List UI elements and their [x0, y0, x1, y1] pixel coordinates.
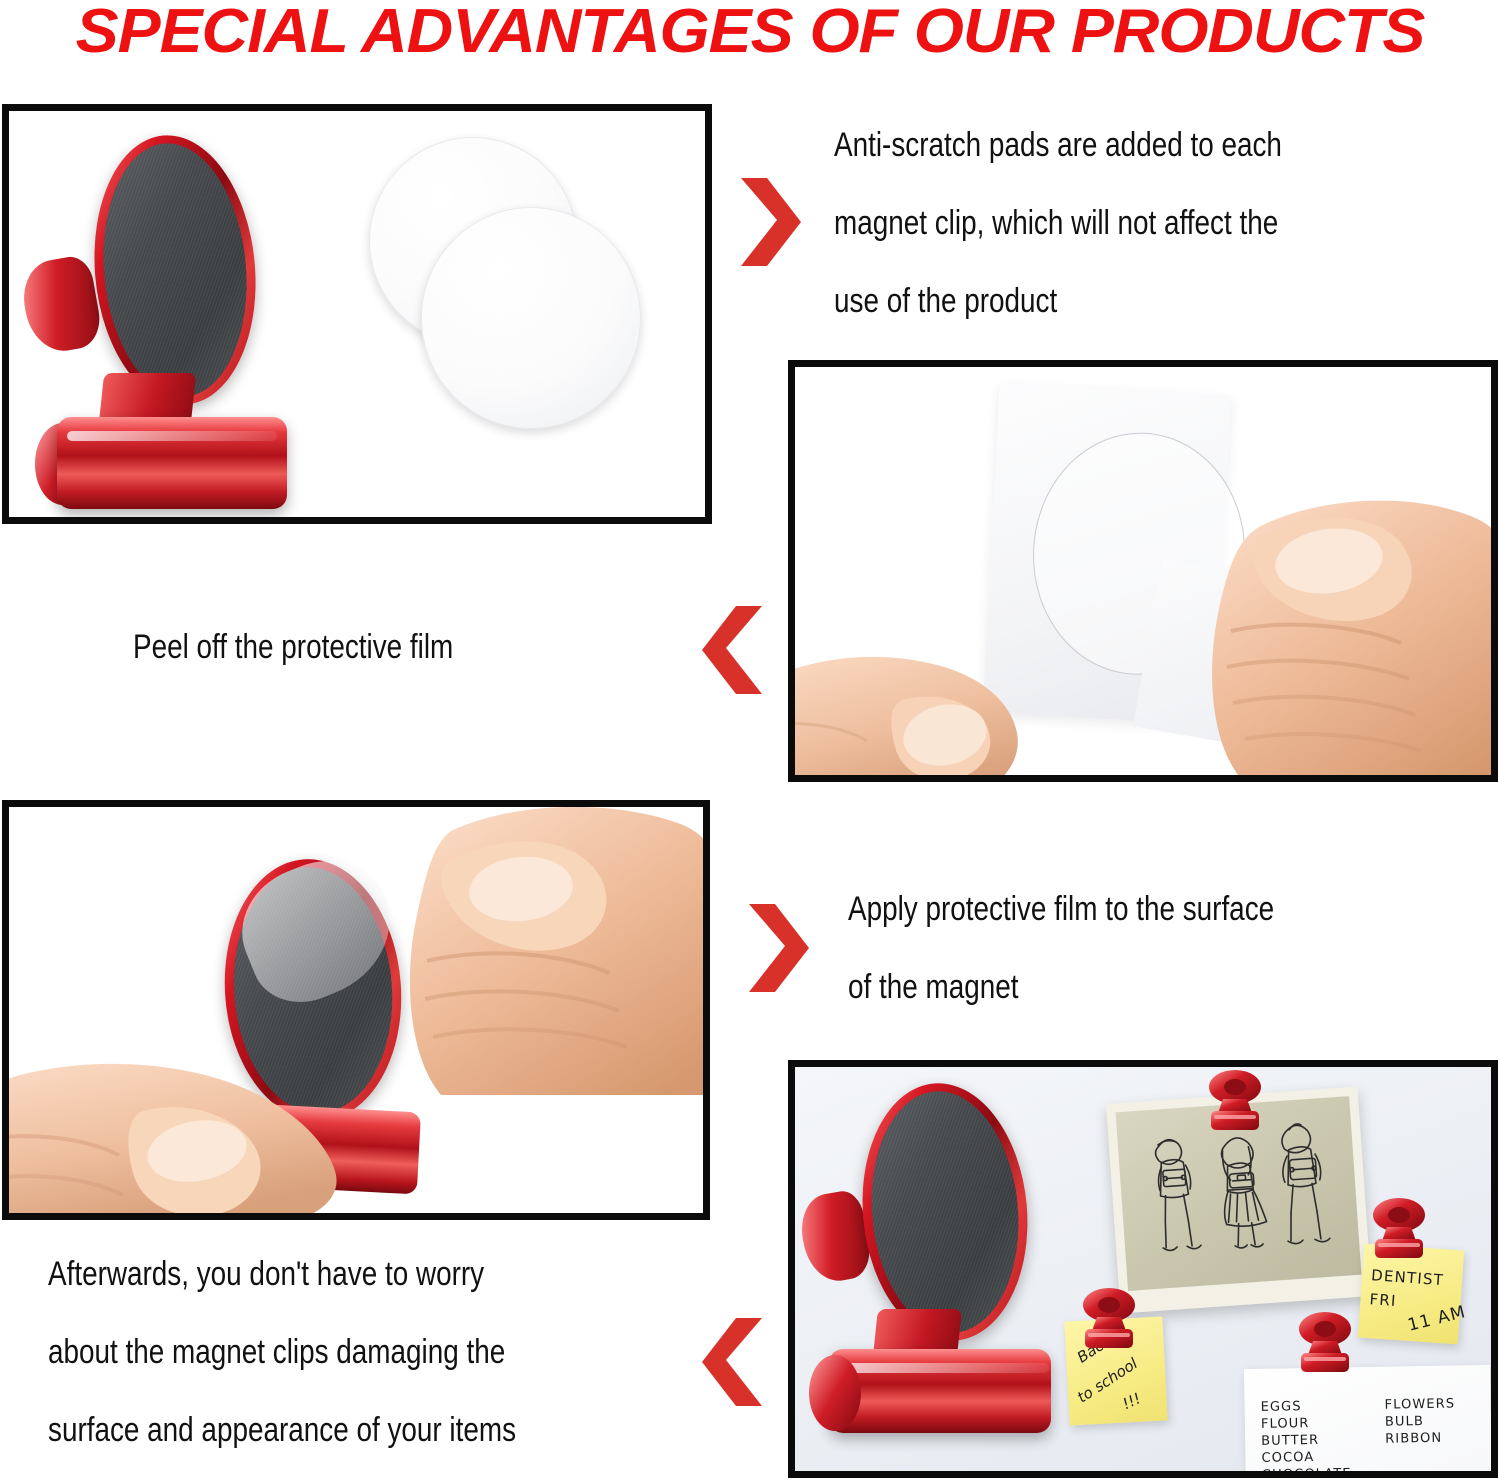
- chevron-right-icon: [745, 902, 811, 994]
- list-item: BULB: [1385, 1412, 1456, 1430]
- red-magnet-clip: [49, 131, 289, 511]
- clip-roll-end: [809, 1355, 861, 1431]
- mini-clip-dentist: [1365, 1197, 1433, 1269]
- dentist-line-1: DENTIST: [1371, 1266, 1445, 1289]
- clip-hinge: [18, 253, 105, 356]
- chevron-left-icon: [700, 604, 766, 696]
- panel-3-scene: [9, 807, 703, 1213]
- step-4-line-2: about the magnet clips damaging the: [48, 1313, 516, 1391]
- panel-1-scene: [9, 111, 705, 517]
- list-item: BUTTER: [1261, 1431, 1351, 1450]
- fridge-scene-photo: Back to school !!! DENTIST FRI 11 AM: [788, 1060, 1498, 1478]
- dentist-line-3: 11 AM: [1406, 1302, 1468, 1336]
- list-item: EGGS: [1260, 1397, 1350, 1416]
- step-2-line-1: Peel off the protective film: [133, 608, 453, 686]
- protective-pad-disc-front: [421, 207, 641, 429]
- panel-2-scene: [795, 367, 1491, 775]
- mini-clip-shopping-list: [1291, 1311, 1359, 1383]
- right-hand: [1187, 485, 1498, 782]
- page-title: SPECIAL ADVANTAGES OF OUR PRODUCTS: [0, 0, 1500, 68]
- magnet-clip-with-pads-photo: [2, 104, 712, 524]
- chevron-left-icon: [700, 1316, 766, 1408]
- bts-line-3: !!!: [1120, 1389, 1144, 1413]
- mini-clip-photo: [1201, 1069, 1269, 1141]
- apply-film-photo: [2, 800, 710, 1220]
- magnet-disc: [852, 1076, 1038, 1347]
- step-1-line-3: use of the product: [834, 262, 1282, 340]
- left-hand-holding-clip: [2, 1037, 415, 1220]
- shopping-list-column-right: FLOWERS BULB RIBBON: [1384, 1395, 1455, 1447]
- shopping-list-column-left: EGGS FLOUR BUTTER COCOA CHOCOLATE CREAM …: [1260, 1397, 1352, 1478]
- shopping-list-paper: EGGS FLOUR BUTTER COCOA CHOCOLATE CREAM …: [1244, 1365, 1492, 1478]
- infographic-page: SPECIAL ADVANTAGES OF OUR PRODUCTS Anti-…: [0, 0, 1500, 1480]
- step-4-text: Afterwards, you don't have to worry abou…: [48, 1235, 516, 1469]
- step-4-line-3: surface and appearance of your items: [48, 1391, 516, 1469]
- step-2-text: Peel off the protective film: [133, 608, 453, 686]
- step-1-line-2: magnet clip, which will not affect the: [834, 184, 1282, 262]
- step-1-text: Anti-scratch pads are added to each magn…: [834, 106, 1282, 340]
- mini-clip-back-to-school: [1075, 1287, 1143, 1359]
- list-item: CHOCOLATE: [1262, 1465, 1352, 1478]
- step-4-line-1: Afterwards, you don't have to worry: [48, 1235, 516, 1313]
- peel-film-photo: [788, 360, 1498, 782]
- list-item: COCOA: [1261, 1448, 1351, 1467]
- step-3-line-2: of the magnet: [848, 948, 1274, 1026]
- dentist-line-2: FRI: [1369, 1290, 1397, 1310]
- left-hand: [788, 607, 1115, 782]
- right-hand-holding-film: [395, 800, 710, 1095]
- clip-jaw-bar: [57, 417, 287, 509]
- list-item: RIBBON: [1385, 1429, 1456, 1447]
- clip-jaw-bar: [829, 1349, 1051, 1433]
- step-3-text: Apply protective film to the surface of …: [848, 870, 1274, 1026]
- magnet-disc: [84, 129, 267, 412]
- step-1-line-1: Anti-scratch pads are added to each: [834, 106, 1282, 184]
- step-3-line-1: Apply protective film to the surface: [848, 870, 1274, 948]
- red-magnet-clip-large: [823, 1081, 1053, 1441]
- list-item: FLOUR: [1261, 1414, 1351, 1433]
- list-item: FLOWERS: [1384, 1395, 1455, 1413]
- chevron-right-icon: [737, 176, 803, 268]
- fridge-door-background: Back to school !!! DENTIST FRI 11 AM: [795, 1067, 1491, 1471]
